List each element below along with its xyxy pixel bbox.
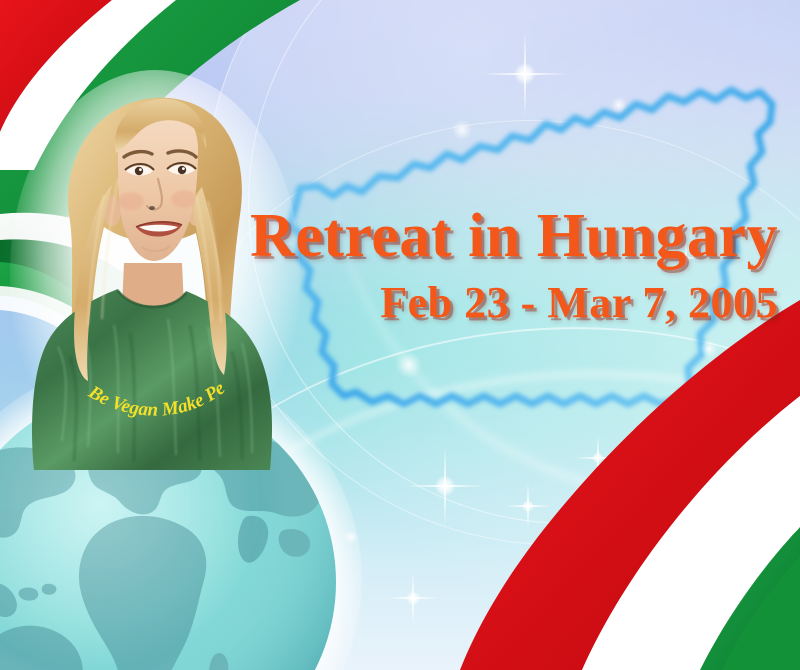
page-title: Retreat in Hungary	[0, 205, 778, 267]
event-dates: Feb 23 - Mar 7, 2005	[0, 281, 778, 325]
title-block: Retreat in Hungary Feb 23 - Mar 7, 2005	[0, 205, 800, 325]
poster-canvas: Be Vegan Make Peace	[0, 0, 800, 670]
